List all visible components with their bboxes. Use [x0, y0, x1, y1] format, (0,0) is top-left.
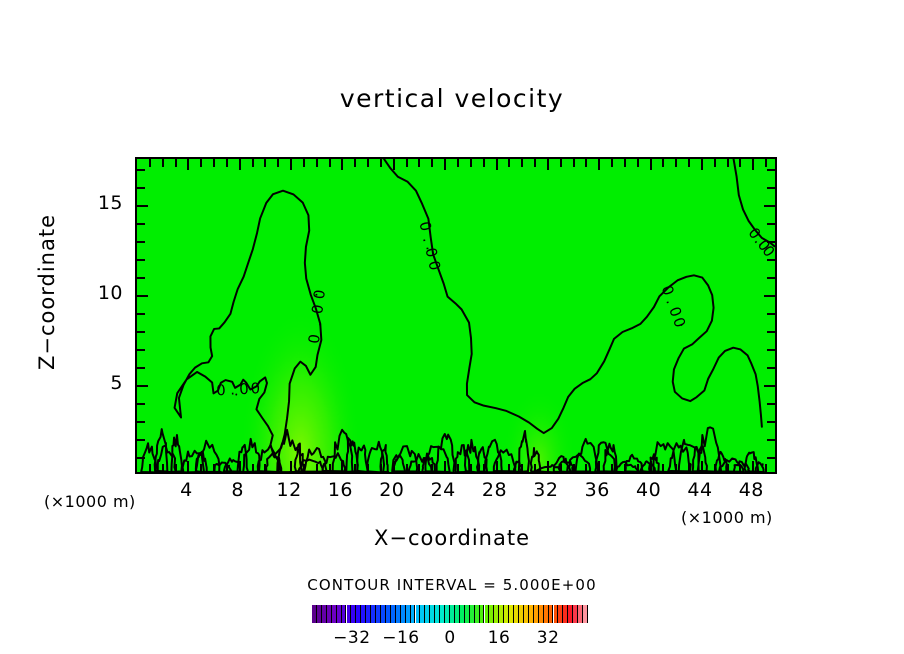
x-tick [316, 159, 318, 167]
x-tick [611, 464, 613, 472]
y-tick [137, 403, 145, 405]
x-unit-right-label: (×1000 m) [681, 508, 773, 527]
x-tick [162, 159, 164, 167]
y-tick [137, 295, 148, 297]
x-tick [418, 159, 420, 167]
contour-value-label: 0 [424, 259, 444, 273]
colorbar-tick-labels: −32−1601632 [312, 628, 588, 650]
x-tick [213, 159, 215, 167]
x-unit-left-label: (×1000 m) [44, 492, 136, 511]
y-tick [137, 439, 145, 441]
y-tick [137, 313, 145, 315]
y-tick [137, 223, 145, 225]
x-tick [521, 159, 523, 167]
x-tick [252, 159, 254, 167]
x-tick [573, 464, 575, 472]
y-tick [767, 169, 775, 171]
x-tick [688, 464, 690, 472]
y-tick [137, 241, 145, 243]
y-tick [767, 349, 775, 351]
y-tick [137, 385, 148, 387]
contour-value-label: 0 [658, 283, 678, 298]
x-tick [637, 464, 639, 472]
x-tick [508, 464, 510, 472]
x-tick [175, 159, 177, 167]
x-tick [662, 464, 664, 472]
y-tick [137, 421, 145, 423]
x-tick [431, 464, 433, 472]
x-tick [585, 159, 587, 167]
y-tick [764, 205, 775, 207]
x-tick [611, 159, 613, 167]
x-tick [701, 461, 703, 472]
y-tick [767, 367, 775, 369]
x-tick [598, 159, 600, 170]
y-tick [137, 169, 145, 171]
y-tick [767, 421, 775, 423]
x-tick [739, 464, 741, 472]
contour-value-label: . [230, 380, 236, 398]
contour-lines-layer: .....0.000.000.000.000.00 [137, 159, 775, 472]
contour-interval-label: CONTOUR INTERVAL = 5.000E+00 [0, 576, 904, 594]
page-title: vertical velocity [0, 84, 904, 113]
x-tick [547, 461, 549, 472]
x-tick [470, 159, 472, 167]
y-tick [767, 331, 775, 333]
x-tick-label: 48 [721, 479, 781, 501]
y-tick [137, 187, 145, 189]
x-tick [483, 464, 485, 472]
y-tick [764, 385, 775, 387]
contour-value-label: 0 [239, 380, 250, 398]
x-tick [162, 464, 164, 472]
x-tick [752, 461, 754, 472]
x-tick [560, 464, 562, 472]
y-tick [137, 331, 145, 333]
x-tick [200, 464, 202, 472]
x-tick [598, 461, 600, 472]
y-tick [137, 367, 145, 369]
y-tick [767, 457, 775, 459]
x-tick [496, 461, 498, 472]
x-tick [303, 159, 305, 167]
x-tick [739, 159, 741, 167]
x-tick [239, 159, 241, 170]
x-tick [187, 159, 189, 170]
x-tick [444, 461, 446, 472]
contour-line [357, 446, 368, 472]
contour-value-label: 0 [250, 379, 261, 397]
colorbar-tick-label: 32 [518, 628, 578, 648]
colorbar[interactable] [312, 605, 588, 623]
x-tick [727, 159, 729, 167]
y-tick [767, 277, 775, 279]
x-tick [470, 464, 472, 472]
x-tick [329, 159, 331, 167]
x-tick [675, 464, 677, 472]
contour-value-label: 0 [310, 288, 329, 300]
x-tick [637, 159, 639, 167]
x-tick [457, 464, 459, 472]
y-tick [764, 295, 775, 297]
y-tick [767, 313, 775, 315]
x-tick [483, 159, 485, 167]
x-tick [662, 159, 664, 167]
contour-value-label: 0 [216, 381, 227, 399]
y-tick [767, 187, 775, 189]
y-tick [767, 259, 775, 261]
x-tick [200, 159, 202, 167]
x-tick [149, 159, 151, 167]
y-tick [767, 439, 775, 441]
x-tick [624, 464, 626, 472]
contour-value-label: 0 [308, 303, 327, 315]
x-tick [367, 159, 369, 167]
x-tick [406, 159, 408, 167]
x-tick [175, 464, 177, 472]
x-tick [226, 464, 228, 472]
x-tick [149, 464, 151, 472]
x-tick [675, 159, 677, 167]
x-tick [393, 461, 395, 472]
contour-value-label: 0 [415, 220, 435, 234]
x-tick [393, 159, 395, 170]
x-axis-title: X−coordinate [0, 526, 904, 550]
x-tick [496, 159, 498, 170]
y-tick [767, 223, 775, 225]
x-tick [380, 464, 382, 472]
y-tick-label: 15 [83, 192, 123, 214]
x-tick [406, 464, 408, 472]
x-tick [560, 159, 562, 167]
x-tick [431, 159, 433, 167]
x-tick [573, 159, 575, 167]
contour-line [175, 191, 322, 455]
x-tick [316, 464, 318, 472]
x-tick [547, 159, 549, 170]
y-axis-title: Z−coordinate [35, 182, 59, 402]
x-tick [457, 159, 459, 167]
x-tick [752, 159, 754, 170]
x-tick [650, 159, 652, 170]
contour-value-label: . [307, 320, 326, 327]
x-tick [714, 464, 716, 472]
x-tick [418, 464, 420, 472]
contour-plot-figure: vertical velocity .....0.000.000.000.000… [0, 0, 904, 654]
x-tick [187, 461, 189, 472]
x-tick [624, 159, 626, 167]
x-tick [264, 159, 266, 167]
contour-value-label: . [419, 235, 438, 244]
y-tick [137, 205, 148, 207]
x-tick [585, 464, 587, 472]
colorbar-segment-dividers [312, 605, 588, 623]
x-tick [354, 159, 356, 167]
x-tick [303, 464, 305, 472]
y-tick [137, 349, 145, 351]
x-tick [277, 159, 279, 167]
x-tick [277, 464, 279, 472]
x-tick [226, 159, 228, 167]
x-tick [213, 464, 215, 472]
x-tick [341, 461, 343, 472]
x-tick [765, 159, 767, 167]
plot-area: .....0.000.000.000.000.00 [135, 157, 777, 474]
y-tick [137, 457, 145, 459]
x-tick [521, 464, 523, 472]
x-tick [534, 464, 536, 472]
x-tick [534, 159, 536, 167]
y-tick [137, 259, 145, 261]
x-tick [329, 464, 331, 472]
x-tick [508, 159, 510, 167]
x-tick [650, 461, 652, 472]
x-tick [290, 461, 292, 472]
x-tick [765, 464, 767, 472]
y-tick [767, 403, 775, 405]
x-tick [688, 159, 690, 167]
x-tick [444, 159, 446, 170]
y-tick [767, 241, 775, 243]
y-tick-label: 10 [83, 282, 123, 304]
y-tick-label: 5 [83, 372, 123, 394]
x-tick [701, 159, 703, 170]
x-tick [367, 464, 369, 472]
x-tick [341, 159, 343, 170]
x-tick [714, 159, 716, 167]
x-tick [380, 159, 382, 167]
x-tick [239, 461, 241, 472]
contour-value-label: 0 [305, 333, 324, 345]
x-tick [264, 464, 266, 472]
x-tick [290, 159, 292, 170]
x-tick [727, 464, 729, 472]
x-tick [252, 464, 254, 472]
x-tick [354, 464, 356, 472]
contour-line [384, 159, 762, 433]
y-tick [137, 277, 145, 279]
